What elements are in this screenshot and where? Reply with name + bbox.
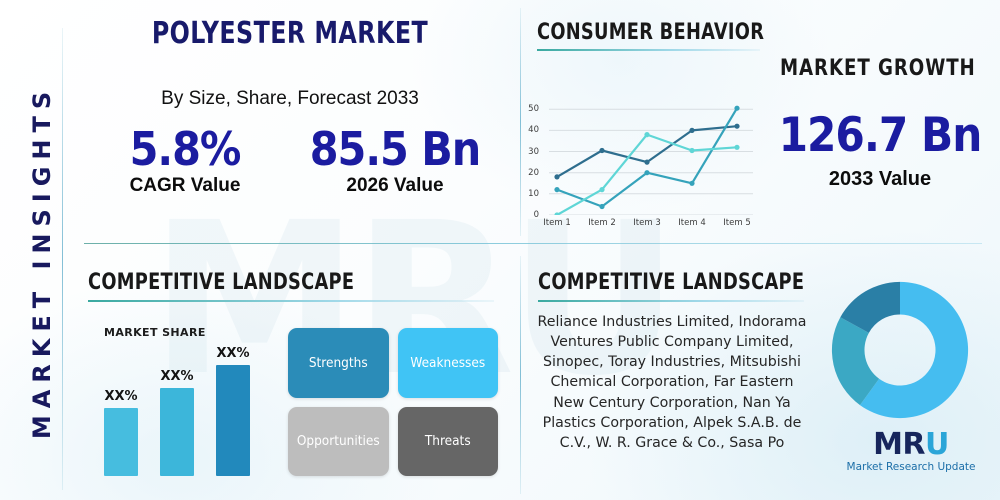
swot-box-threats[interactable]: Threats [398,407,499,477]
stat-2026-label: 2026 Value [290,175,500,197]
line-chart-svg [543,105,753,215]
logo-wordmark: MRU [873,430,949,460]
consumer-behavior-line-chart: 01020304050 Item 1Item 2Item 3Item 4Item… [543,105,753,215]
bar-rect [104,408,138,476]
stat-cagr-value: 5.8% [80,125,290,173]
divider-horizontal [84,243,982,244]
line-chart-y-tick: 50 [528,104,539,114]
bar-rect [160,388,194,476]
headline-stats: 5.8% CAGR Value 85.5 Bn 2026 Value [80,125,500,197]
competitive-landscape-right-heading: COMPETITIVE LANDSCAPE [538,270,804,295]
infographic-canvas: MRU MARKET INSIGHTS POLYESTER MARKET By … [0,0,1000,500]
bar-value-label: XX% [216,346,249,361]
logo-prefix: MR [873,427,925,462]
page-subtitle: By Size, Share, Forecast 2033 [80,88,500,110]
company-list: Reliance Industries Limited, Indorama Ve… [533,312,811,453]
line-chart-x-tick: Item 3 [633,218,660,228]
brand-logo: MRU Market Research Update [846,430,976,473]
competitive-landscape-left-underline [88,300,494,302]
side-title: MARKET INSIGHTS [28,52,56,472]
stat-2026-value: 85.5 Bn [290,125,500,173]
consumer-behavior-underline [537,49,760,51]
swot-box-weaknesses[interactable]: Weaknesses [398,328,499,398]
competitive-landscape-left-heading: COMPETITIVE LANDSCAPE [88,270,354,295]
line-chart-x-tick: Item 5 [723,218,750,228]
logo-tagline: Market Research Update [846,461,976,473]
divider-middle-vertical-bottom [520,256,521,494]
line-chart-y-tick: 20 [528,168,539,178]
market-growth-value: 126.7 Bn [770,112,990,159]
line-chart-y-tick: 10 [528,189,539,199]
page-title: POLYESTER MARKET [105,16,475,51]
stat-cagr: 5.8% CAGR Value [80,125,290,197]
bar-rect [216,365,250,476]
bar-column: XX% [104,346,138,476]
swot-box-strengths[interactable]: Strengths [288,328,389,398]
swot-grid: StrengthsWeaknessesOpportunitiesThreats [288,328,498,476]
consumer-behavior-heading: CONSUMER BEHAVIOR [537,20,764,45]
divider-middle-vertical-top [520,8,521,236]
market-growth-label: 2033 Value [770,168,990,191]
line-chart-y-tick: 30 [528,147,539,157]
line-chart-y-tick: 0 [534,210,539,220]
swot-box-opportunities[interactable]: Opportunities [288,407,389,477]
market-share-bar-chart: XX%XX%XX% [104,346,264,476]
line-chart-y-tick: 40 [528,125,539,135]
market-growth-heading: MARKET GROWTH [780,56,976,81]
donut-chart-svg [826,276,974,424]
logo-accent: U [925,427,949,462]
stat-2026: 85.5 Bn 2026 Value [290,125,500,197]
market-share-donut-chart [826,276,974,424]
divider-left-vertical [62,28,63,490]
line-chart-x-tick: Item 2 [588,218,615,228]
bar-value-label: XX% [160,369,193,384]
bar-column: XX% [160,346,194,476]
line-chart-x-tick: Item 4 [678,218,705,228]
line-chart-x-tick: Item 1 [543,218,570,228]
competitive-landscape-right-underline [538,300,804,302]
bar-column: XX% [216,346,250,476]
bar-value-label: XX% [104,389,137,404]
stat-cagr-label: CAGR Value [80,175,290,197]
market-share-title: MARKET SHARE [104,326,206,339]
